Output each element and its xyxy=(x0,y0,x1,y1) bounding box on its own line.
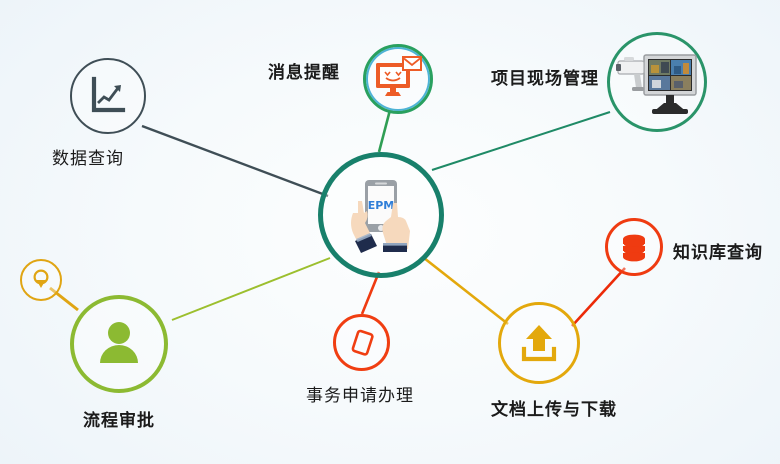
tilted-document-icon xyxy=(336,317,387,368)
node-project-site-management[interactable] xyxy=(607,32,707,132)
cctv-camera-monitor-icon xyxy=(610,35,704,129)
node-knowledge-base-query[interactable] xyxy=(605,218,663,276)
label-message-reminder: 消息提醒 xyxy=(268,58,340,83)
person-icon xyxy=(74,299,164,389)
label-knowledge-base-query: 知识库查询 xyxy=(673,238,763,263)
node-location-marker[interactable] xyxy=(20,259,62,301)
map-pin-magnifier-icon xyxy=(22,261,60,299)
upload-arrow-icon xyxy=(501,305,577,381)
diagram-canvas: EPM 数据 xyxy=(0,0,780,464)
database-magnifier-icon xyxy=(608,221,660,273)
label-affairs-application: 事务申请办理 xyxy=(306,381,414,406)
node-process-approval[interactable] xyxy=(70,295,168,393)
node-document-upload-download[interactable] xyxy=(498,302,580,384)
node-affairs-application[interactable] xyxy=(333,314,390,371)
label-process-approval: 流程审批 xyxy=(83,406,155,431)
hand-holding-smartphone-icon: EPM xyxy=(323,157,439,273)
line-chart-icon xyxy=(72,60,144,132)
node-center-epm[interactable]: EPM xyxy=(318,152,444,278)
monitor-envelope-icon xyxy=(366,47,430,111)
label-data-query: 数据查询 xyxy=(52,144,124,169)
epm-screen-text: EPM xyxy=(368,199,395,212)
label-document-upload-download: 文档上传与下载 xyxy=(491,395,617,420)
node-data-query[interactable] xyxy=(70,58,146,134)
label-project-site-management: 项目现场管理 xyxy=(491,64,599,89)
node-message-reminder[interactable] xyxy=(363,44,433,114)
